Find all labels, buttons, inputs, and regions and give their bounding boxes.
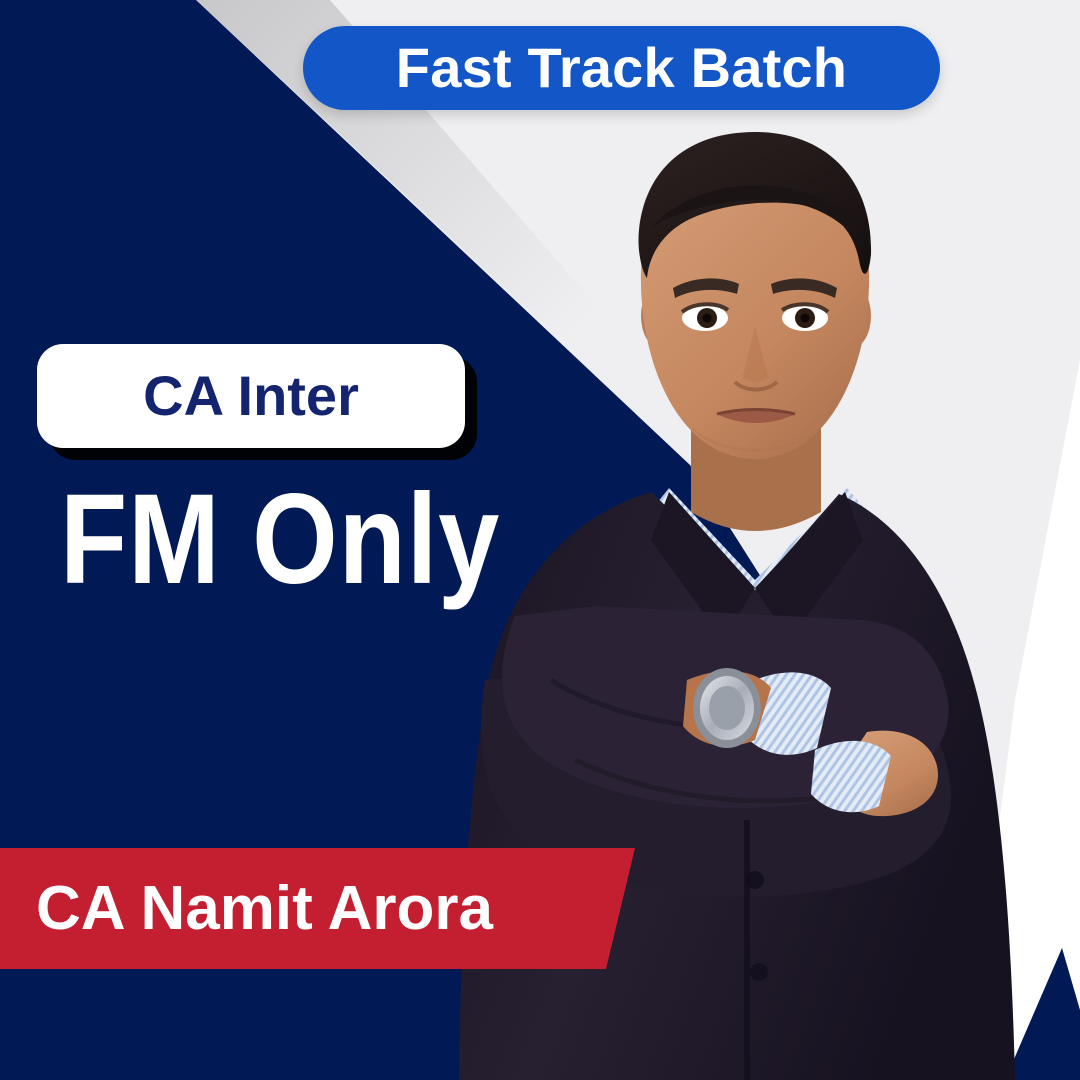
faculty-name-label: CA Namit Arora bbox=[36, 878, 493, 940]
course-subject-headline: FM Only bbox=[60, 476, 500, 604]
fast-track-batch-badge: Fast Track Batch bbox=[303, 26, 940, 110]
poster-root: Fast Track Batch CA Inter FM Only CA Nam… bbox=[0, 0, 1080, 1080]
fast-track-batch-label: Fast Track Batch bbox=[396, 40, 847, 96]
course-level-label: CA Inter bbox=[143, 368, 359, 424]
faculty-name-band: CA Namit Arora bbox=[0, 848, 640, 969]
course-level-chip: CA Inter bbox=[37, 344, 465, 448]
